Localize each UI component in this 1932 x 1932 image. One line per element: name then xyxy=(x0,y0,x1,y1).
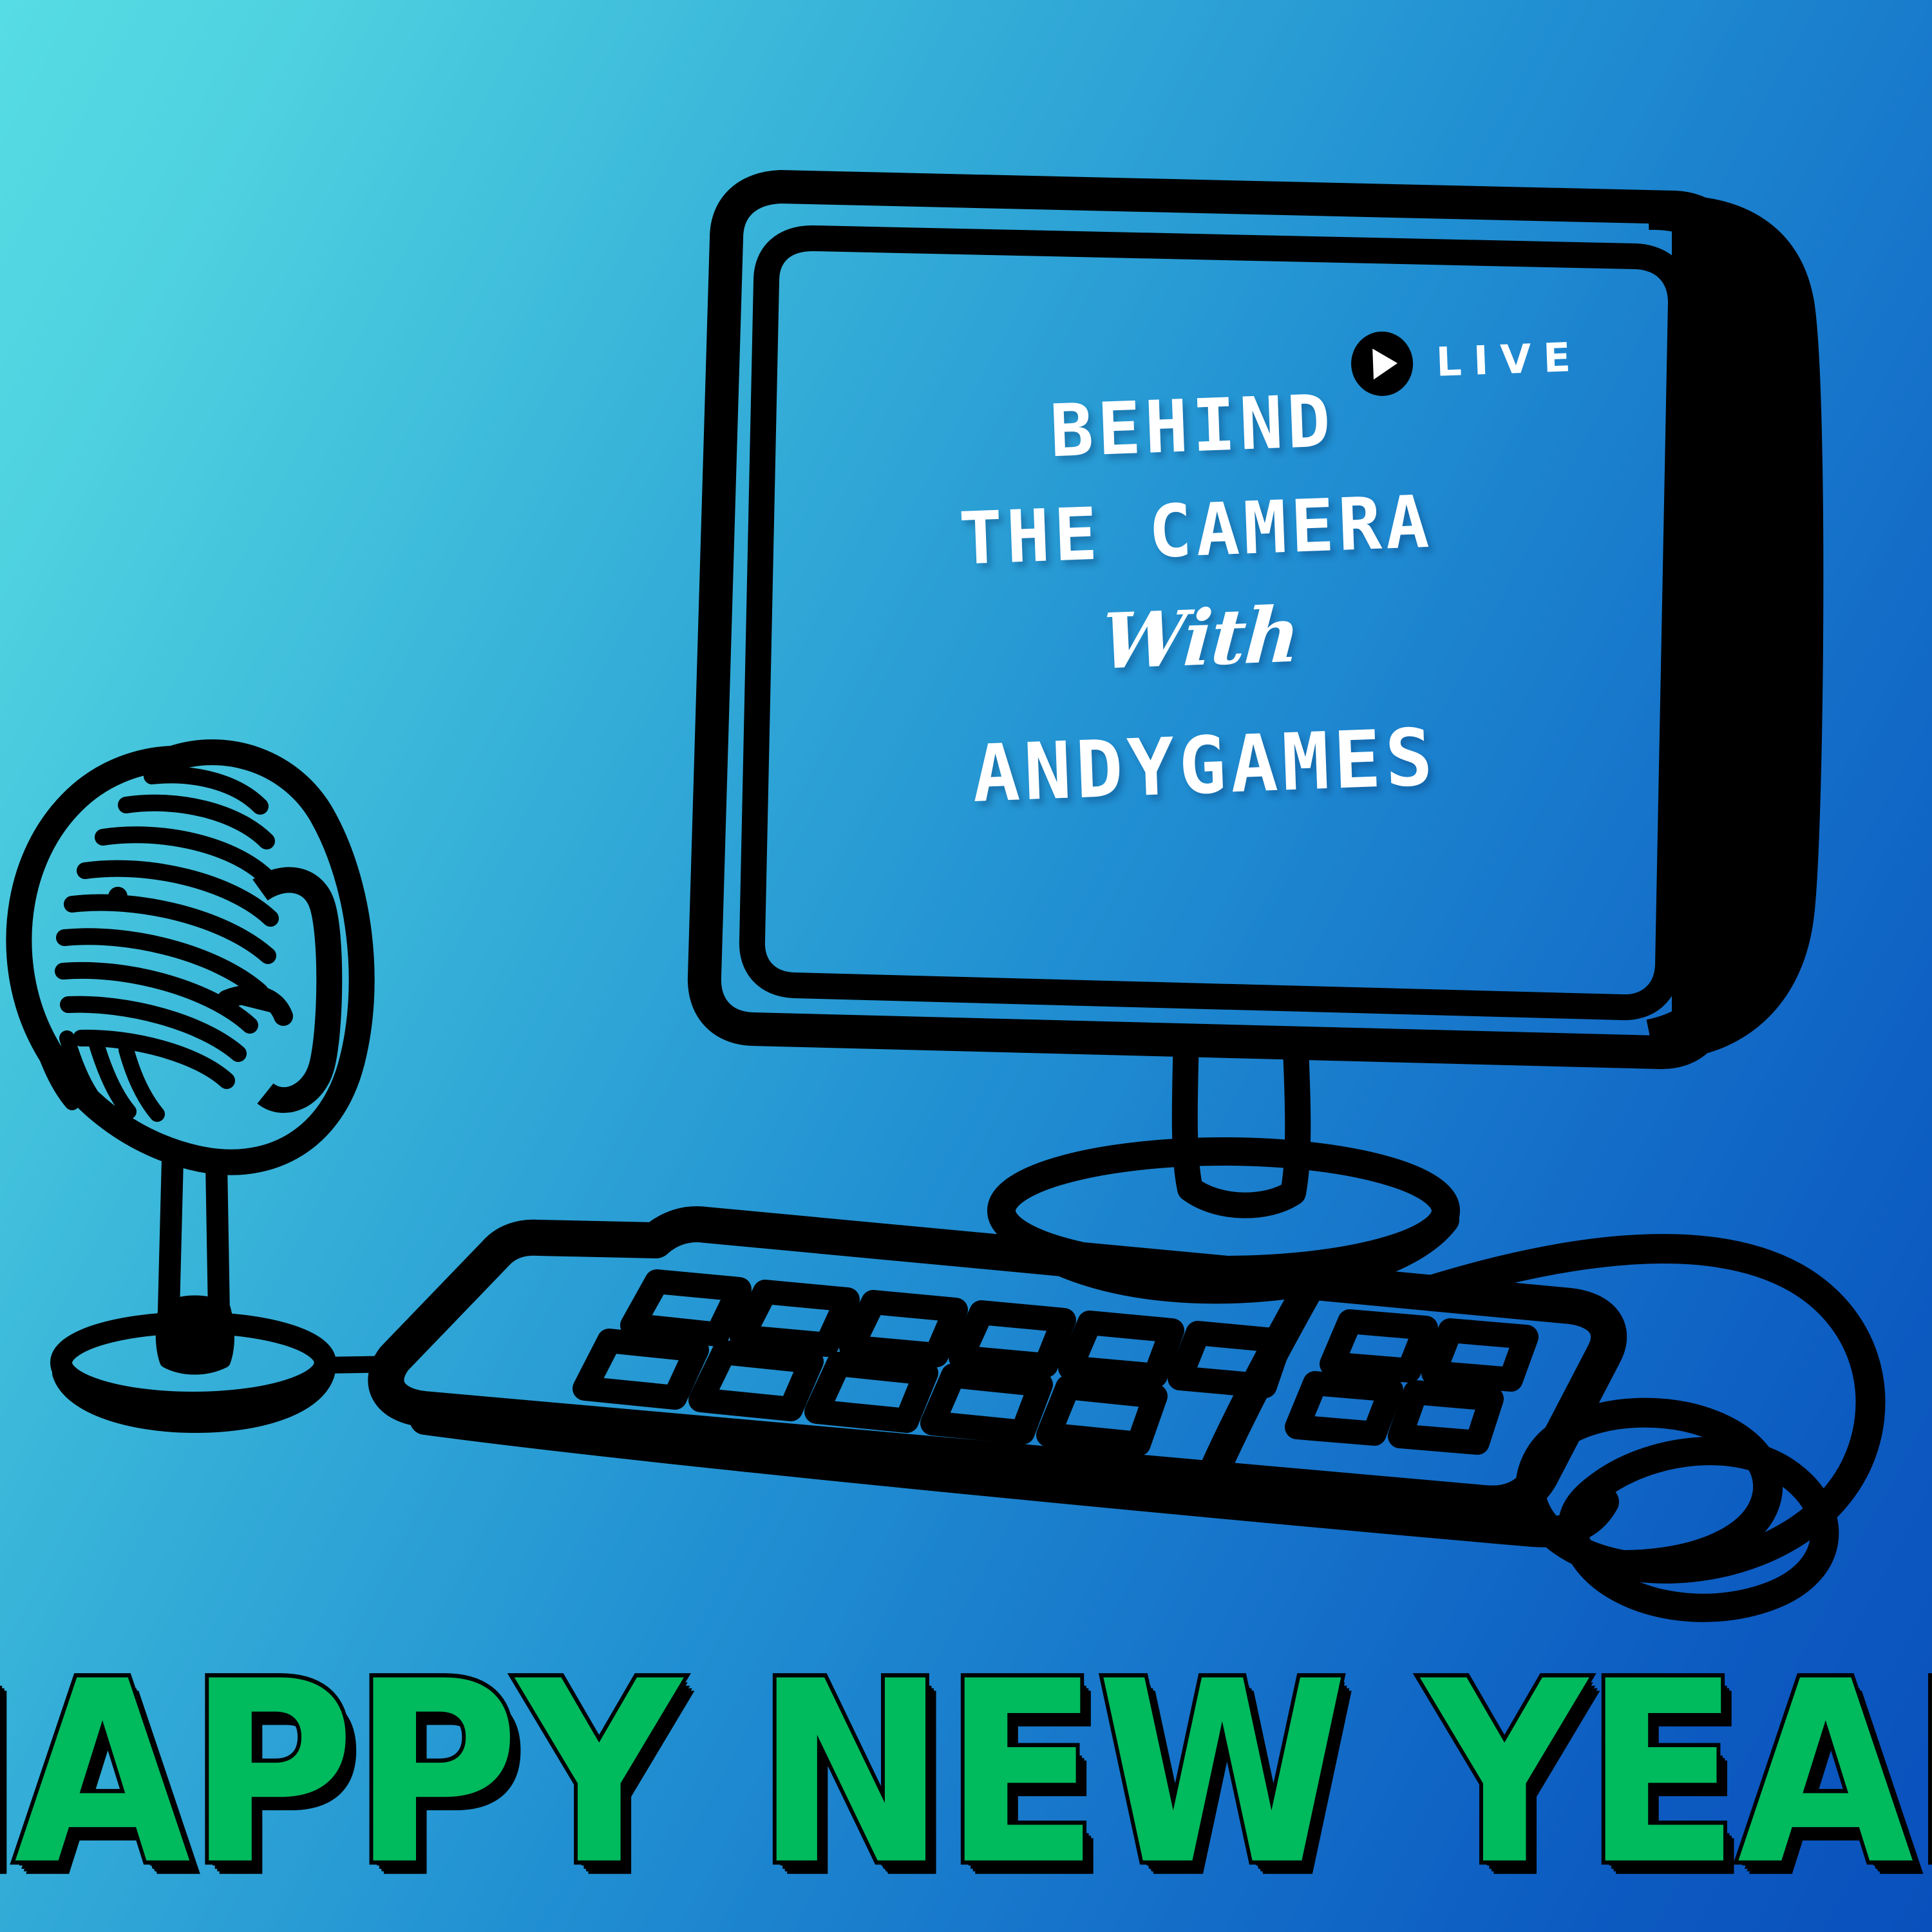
headline-text: HAPPY NEW YEAR! xyxy=(0,1628,1932,1920)
microphone xyxy=(19,752,361,1422)
play-icon xyxy=(1350,330,1414,397)
headline-happy-new-year: HAPPY NEW YEAR! xyxy=(0,1649,1932,1900)
live-label: LIVE xyxy=(1435,333,1584,385)
monitor-outer-bezel xyxy=(705,187,1727,1052)
monitor-neck xyxy=(1185,1037,1298,1206)
keyboard xyxy=(386,1224,1609,1532)
podcast-cover-poster: LIVE BEHIND THE CAMERA With ANDYGAMES HA… xyxy=(0,0,1932,1932)
play-triangle xyxy=(1372,348,1398,379)
live-badge: LIVE xyxy=(1350,324,1584,397)
